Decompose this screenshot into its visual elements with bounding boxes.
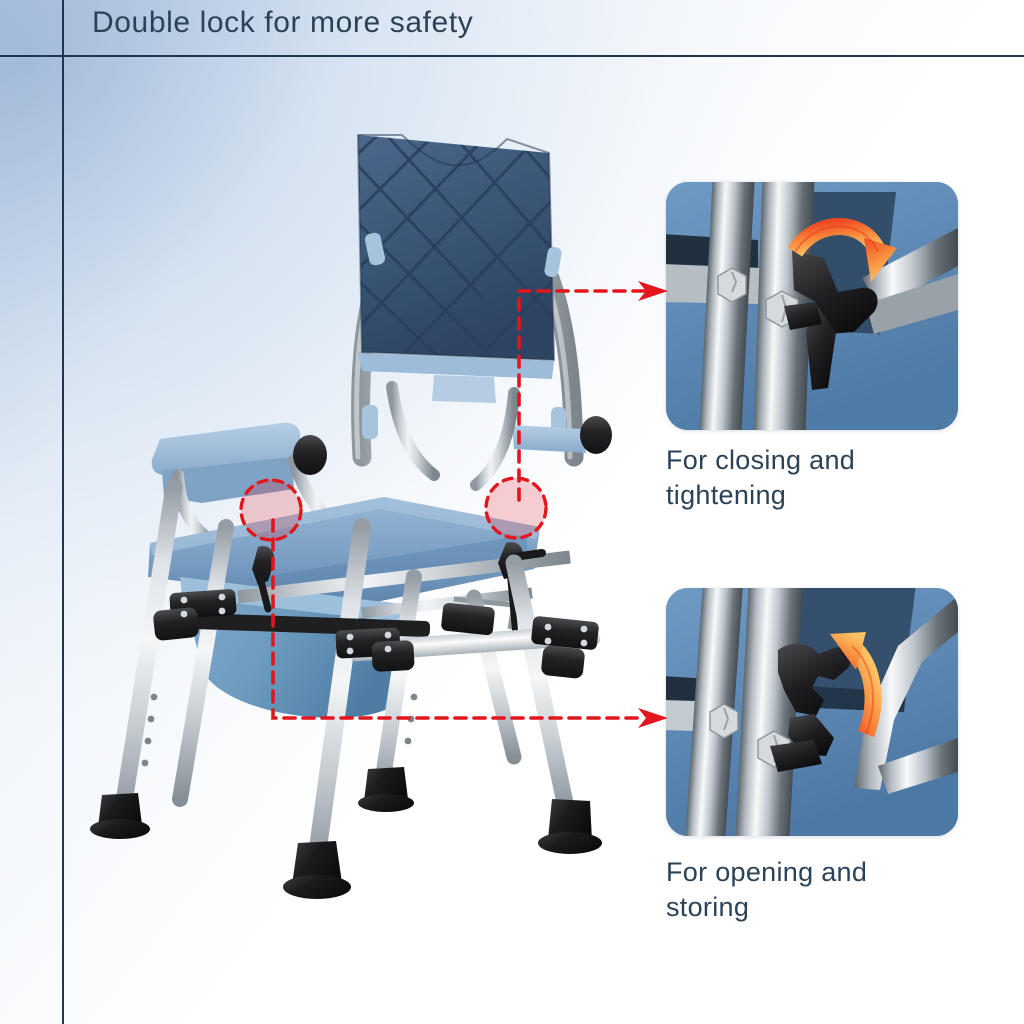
armrest-right — [512, 425, 586, 453]
callout-caption-opening: For opening and storing — [666, 855, 976, 925]
callout-panel-closing[interactable] — [666, 182, 958, 430]
rubber-foot — [90, 767, 602, 899]
caption-line-1: For closing and — [666, 443, 976, 478]
caption-line-1: For opening and — [666, 855, 976, 890]
infographic-canvas: Double lock for more safety — [0, 0, 1024, 1024]
product-photo — [62, 57, 662, 957]
header-divider-horizontal — [0, 55, 1024, 57]
caption-line-2: storing — [666, 890, 976, 925]
caption-line-2: tightening — [666, 478, 976, 513]
frame-divider-vertical — [62, 0, 64, 1024]
callout-caption-closing: For closing and tightening — [666, 443, 976, 513]
page-title: Double lock for more safety — [92, 6, 473, 40]
callout-panel-opening[interactable] — [666, 588, 958, 836]
